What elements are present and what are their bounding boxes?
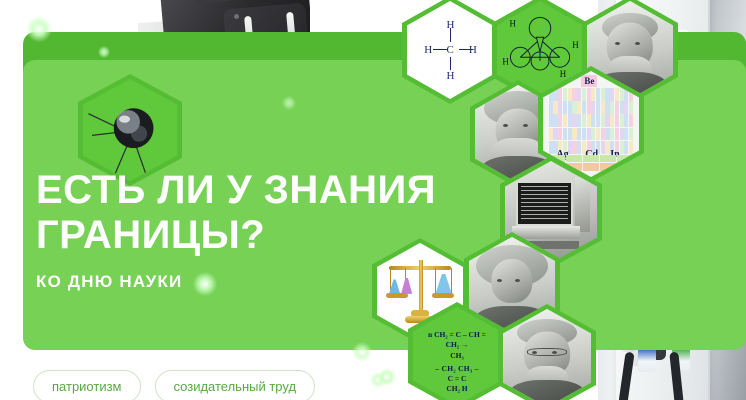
formula-line-2: CH₃ (421, 351, 493, 361)
svg-text:H: H (502, 56, 509, 66)
periodic-highlight-label: Be (581, 75, 597, 87)
computer-tower (575, 177, 590, 232)
bespectacled-scientist-portrait (503, 309, 591, 400)
methane-h-bottom: H (447, 70, 455, 82)
periodic-lanthanides (549, 155, 633, 162)
hero-subtitle: КО ДНЮ НАУКИ (36, 272, 496, 292)
polymer-formula: n CH₂ = C – CH = CH₂ → CH₃ – CH₂ CH₃ – C… (413, 307, 501, 400)
methane-h-right: H (469, 44, 477, 56)
formula-line-3: – CH₂ CH₃ – (421, 364, 493, 374)
tag-sozidatelnyy-trud[interactable]: созидательный труд (155, 370, 316, 400)
tag-patriotizm[interactable]: патриотизм (33, 370, 141, 400)
formula-line-5: CH₂ H (421, 384, 493, 394)
svg-text:H: H (560, 69, 567, 79)
formula-line-1: n CH₂ = C – CH = CH₂ → (421, 330, 493, 350)
methane-molecule-hexagon: H H H H C (402, 0, 498, 104)
formula-line-4: C = C (421, 374, 493, 384)
svg-text:H: H (572, 40, 579, 50)
page-title: ЕСТЬ ЛИ У ЗНАНИЯ ГРАНИЦЫ? (36, 168, 496, 258)
promo-banner: H H H H C (0, 0, 746, 400)
methane-h-left: H (424, 44, 432, 56)
periodic-grid (549, 88, 633, 154)
hero-text-block: ЕСТЬ ЛИ У ЗНАНИЯ ГРАНИЦЫ? КО ДНЮ НАУКИ (36, 168, 496, 292)
methane-structure: H H H H C (407, 1, 493, 99)
computer-display (516, 181, 573, 226)
svg-text:H: H (510, 18, 517, 28)
tag-list: патриотизм созидательный труд (33, 370, 315, 400)
machine-screw-1 (234, 14, 239, 19)
computer-keyboard (512, 226, 580, 238)
methane-carbon: C (447, 44, 454, 56)
